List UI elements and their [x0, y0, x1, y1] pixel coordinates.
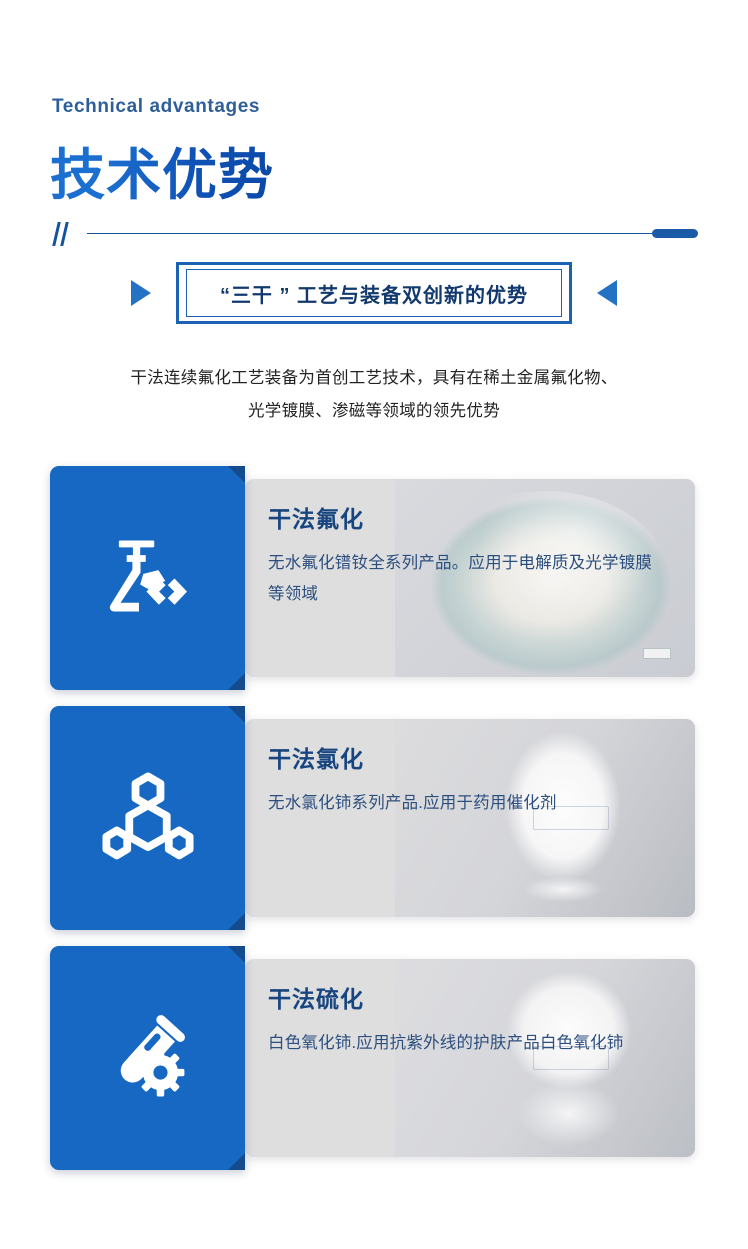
card-icon-tile	[50, 466, 245, 690]
card-title: 干法氟化	[268, 500, 688, 534]
card-body: 白色氧化铈.应用抗紫外线的护肤产品白色氧化铈	[268, 1028, 653, 1059]
headline-banner: “三干 ” 工艺与装备双创新的优势	[0, 262, 748, 324]
flask-code-icon	[50, 466, 245, 690]
double-slash-icon	[50, 222, 76, 246]
section-eyebrow: Technical advantages	[52, 96, 260, 118]
divider-cap	[652, 229, 698, 238]
description-line-1: 干法连续氟化工艺装备为首创工艺技术，具有在稀土金属氟化物、	[74, 362, 674, 395]
technical-advantages-page: Technical advantages 技术优势 “三干 ” 工艺与装备双创新…	[0, 0, 748, 1249]
section-description: 干法连续氟化工艺装备为首创工艺技术，具有在稀土金属氟化物、 光学镀膜、渗磁等领域…	[74, 362, 674, 428]
test-tube-gear-icon	[50, 946, 245, 1170]
triangle-right-icon	[131, 280, 151, 306]
card-text-block: 干法硫化 白色氧化铈.应用抗紫外线的护肤产品白色氧化铈	[268, 946, 688, 1144]
divider-line	[87, 233, 652, 234]
triangle-left-icon	[597, 280, 617, 306]
molecule-hexagon-icon	[50, 706, 245, 930]
page-title: 技术优势	[50, 130, 274, 210]
card-title: 干法氯化	[268, 740, 688, 774]
advantage-card[interactable]: 干法硫化 白色氧化铈.应用抗紫外线的护肤产品白色氧化铈	[0, 946, 748, 1186]
card-icon-tile	[50, 946, 245, 1170]
card-text-block: 干法氟化 无水氟化镨钕全系列产品。应用于电解质及光学镀膜等领域	[268, 466, 688, 664]
section-divider	[50, 222, 698, 246]
headline-inner-frame: “三干 ” 工艺与装备双创新的优势	[186, 269, 562, 317]
card-text-block: 干法氯化 无水氯化铈系列产品.应用于药用催化剂	[268, 706, 688, 904]
headline-text: “三干 ” 工艺与装备双创新的优势	[220, 279, 528, 308]
advantage-card-list: 干法氟化 无水氟化镨钕全系列产品。应用于电解质及光学镀膜等领域	[0, 466, 748, 1186]
description-line-2: 光学镀膜、渗磁等领域的领先优势	[74, 395, 674, 428]
advantage-card[interactable]: 干法氯化 无水氯化铈系列产品.应用于药用催化剂	[0, 706, 748, 946]
card-body: 无水氟化镨钕全系列产品。应用于电解质及光学镀膜等领域	[268, 548, 653, 610]
card-title: 干法硫化	[268, 980, 688, 1014]
card-icon-tile	[50, 706, 245, 930]
advantage-card[interactable]: 干法氟化 无水氟化镨钕全系列产品。应用于电解质及光学镀膜等领域	[0, 466, 748, 706]
card-body: 无水氯化铈系列产品.应用于药用催化剂	[268, 788, 653, 819]
